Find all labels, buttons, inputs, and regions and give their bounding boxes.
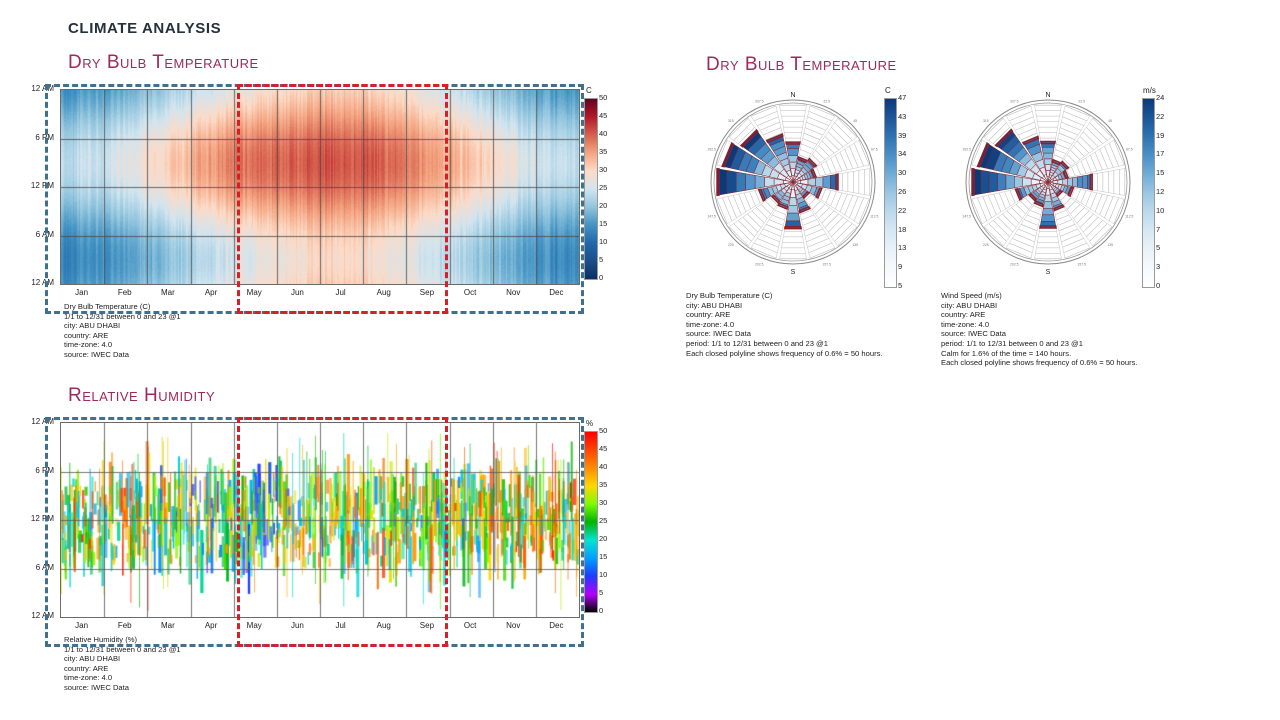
colorbar-tick-label: 5	[599, 255, 603, 264]
y-tick: 6 AM	[14, 230, 54, 239]
colorbar-tick-label: 15	[599, 219, 607, 228]
rose-degree-tick: 157.5	[1077, 262, 1086, 266]
colorbar-tick-label: 22	[1156, 112, 1164, 121]
colorbar-tick-label: 30	[898, 168, 906, 177]
dbt-rose-svg: NESW22.54567.5112.5135157.5202.5225247.5…	[707, 86, 879, 286]
rose-degree-tick: 112.5	[870, 215, 878, 219]
y-tick: 6 PM	[14, 466, 54, 475]
colorbar-tick-label: 20	[599, 534, 607, 543]
colorbar-tick-label: 50	[599, 426, 607, 435]
rose-degree-tick: 202.5	[755, 262, 764, 266]
dbt-heatmap-canvas	[61, 90, 579, 284]
rh-colorbar-strip	[584, 431, 598, 613]
rh-colorbar-title: %	[586, 419, 593, 428]
rose-degree-tick: 135	[852, 243, 858, 247]
rose-wind-caption: Wind Speed (m/s) city: ABU DHABI country…	[941, 291, 1138, 368]
rh-heatmap-canvas	[61, 423, 579, 617]
colorbar-tick-label: 30	[599, 498, 607, 507]
colorbar-tick-label: 34	[898, 149, 906, 158]
x-tick: Sep	[405, 621, 448, 630]
colorbar-tick-label: 10	[599, 570, 607, 579]
rose-degree-tick: 45	[1108, 119, 1112, 123]
section-title-dry-bulb-temperature-rose: Dry Bulb Temperature	[706, 54, 897, 76]
rose-degree-tick: 135	[1107, 243, 1113, 247]
colorbar-tick-label: 19	[1156, 131, 1164, 140]
colorbar-tick-label: 10	[599, 237, 607, 246]
dbt-colorbar-strip	[584, 98, 598, 280]
y-tick: 12 AM	[14, 278, 54, 287]
compass-label: N	[790, 92, 795, 99]
colorbar-tick-label: 18	[898, 225, 906, 234]
colorbar-tick-label: 22	[898, 206, 906, 215]
colorbar-tick-label: 50	[599, 93, 607, 102]
rose-degree-tick: 67.5	[871, 147, 878, 151]
x-tick: Dec	[535, 621, 578, 630]
colorbar-tick-label: 0	[599, 273, 603, 282]
rose-degree-tick: 67.5	[1126, 147, 1133, 151]
rose-degree-tick: 247.5	[962, 215, 971, 219]
colorbar-tick-label: 20	[599, 201, 607, 210]
x-tick: May	[233, 621, 276, 630]
rose-degree-tick: 315	[983, 119, 989, 123]
x-tick: Oct	[449, 288, 492, 297]
rose-wind-colorbar-strip	[1142, 98, 1155, 288]
rose-degree-tick: 292.5	[707, 147, 716, 151]
rose-degree-tick: 247.5	[707, 215, 716, 219]
rose-degree-tick: 22.5	[1078, 100, 1085, 104]
x-tick: Aug	[362, 288, 405, 297]
colorbar-tick-label: 17	[1156, 149, 1164, 158]
x-tick: May	[233, 288, 276, 297]
y-tick: 12 PM	[14, 181, 54, 190]
rh-plot-area[interactable]	[60, 422, 580, 618]
x-tick: Nov	[492, 621, 535, 630]
colorbar-tick-label: 3	[1156, 262, 1160, 271]
y-tick: 6 AM	[14, 563, 54, 572]
compass-label: S	[791, 269, 796, 276]
colorbar-tick-label: 9	[898, 262, 902, 271]
rose-temp-colorbar-strip	[884, 98, 897, 288]
colorbar-tick-label: 30	[599, 165, 607, 174]
x-tick: Mar	[146, 621, 189, 630]
compass-label: S	[1046, 269, 1051, 276]
section-title-dry-bulb-temperature-heatmap: Dry Bulb Temperature	[68, 52, 259, 74]
rose-degree-tick: 225	[728, 243, 734, 247]
colorbar-tick-label: 15	[599, 552, 607, 561]
colorbar-tick-label: 5	[1156, 243, 1160, 252]
rose-degree-tick: 22.5	[823, 100, 830, 104]
colorbar-tick-label: 47	[898, 93, 906, 102]
x-tick: Apr	[190, 621, 233, 630]
rh-heatmap-caption: Relative Humidity (%) 1/1 to 12/31 betwe…	[64, 635, 181, 693]
rose-temp-caption: Dry Bulb Temperature (C) city: ABU DHABI…	[686, 291, 883, 358]
wind-speed-windrose[interactable]: NESW22.54567.5112.5135157.5202.5225247.5…	[962, 86, 1134, 286]
rose-degree-tick: 45	[853, 119, 857, 123]
x-tick: Feb	[103, 288, 146, 297]
colorbar-tick-label: 26	[898, 187, 906, 196]
colorbar-tick-label: 25	[599, 183, 607, 192]
x-tick: Aug	[362, 621, 405, 630]
rose-degree-tick: 315	[728, 119, 734, 123]
colorbar-tick-label: 40	[599, 462, 607, 471]
colorbar-tick-label: 24	[1156, 93, 1164, 102]
y-tick: 12 AM	[14, 84, 54, 93]
colorbar-tick-label: 5	[898, 281, 902, 290]
dbt-colorbar-title: C	[586, 86, 592, 95]
rose-degree-tick: 292.5	[962, 147, 971, 151]
x-tick: Jan	[60, 621, 103, 630]
colorbar-tick-label: 13	[898, 243, 906, 252]
x-tick: Jun	[276, 288, 319, 297]
colorbar-tick-label: 0	[1156, 281, 1160, 290]
compass-label: N	[1045, 92, 1050, 99]
rose-degree-tick: 337.5	[1010, 100, 1019, 104]
rose-degree-tick: 202.5	[1010, 262, 1019, 266]
y-tick: 12 PM	[14, 514, 54, 523]
colorbar-tick-label: 35	[599, 480, 607, 489]
colorbar-tick-label: 45	[599, 111, 607, 120]
x-tick: Feb	[103, 621, 146, 630]
dbt-plot-area[interactable]	[60, 89, 580, 285]
colorbar-tick-label: 10	[1156, 206, 1164, 215]
rose-degree-tick: 112.5	[1125, 215, 1133, 219]
colorbar-tick-label: 12	[1156, 187, 1164, 196]
x-tick: Sep	[405, 288, 448, 297]
rose-temp-colorbar-title: C	[885, 86, 891, 95]
y-tick: 12 AM	[14, 611, 54, 620]
colorbar-tick-label: 25	[599, 516, 607, 525]
x-tick: Jul	[319, 288, 362, 297]
y-tick: 6 PM	[14, 133, 54, 142]
x-tick: Jan	[60, 288, 103, 297]
page-title: CLIMATE ANALYSIS	[68, 20, 221, 37]
x-tick: Nov	[492, 288, 535, 297]
rose-degree-tick: 157.5	[822, 262, 831, 266]
x-tick: Jun	[276, 621, 319, 630]
y-tick: 12 AM	[14, 417, 54, 426]
colorbar-tick-label: 43	[898, 112, 906, 121]
colorbar-tick-label: 0	[599, 606, 603, 615]
wind-speed-rose-svg: NESW22.54567.5112.5135157.5202.5225247.5…	[962, 86, 1134, 286]
colorbar-tick-label: 40	[599, 129, 607, 138]
colorbar-tick-label: 35	[599, 147, 607, 156]
x-tick: Mar	[146, 288, 189, 297]
colorbar-tick-label: 5	[599, 588, 603, 597]
colorbar-tick-label: 39	[898, 131, 906, 140]
section-title-relative-humidity-heatmap: Relative Humidity	[68, 385, 215, 407]
colorbar-tick-label: 7	[1156, 225, 1160, 234]
rose-degree-tick: 337.5	[755, 100, 764, 104]
x-tick: Jul	[319, 621, 362, 630]
colorbar-tick-label: 15	[1156, 168, 1164, 177]
rose-wind-colorbar-title: m/s	[1143, 86, 1156, 95]
x-tick: Dec	[535, 288, 578, 297]
dry-bulb-temperature-windrose[interactable]: NESW22.54567.5112.5135157.5202.5225247.5…	[707, 86, 879, 286]
dbt-heatmap-caption: Dry Bulb Temperature (C) 1/1 to 12/31 be…	[64, 302, 181, 360]
rose-degree-tick: 225	[983, 243, 989, 247]
x-tick: Oct	[449, 621, 492, 630]
x-tick: Apr	[190, 288, 233, 297]
colorbar-tick-label: 45	[599, 444, 607, 453]
